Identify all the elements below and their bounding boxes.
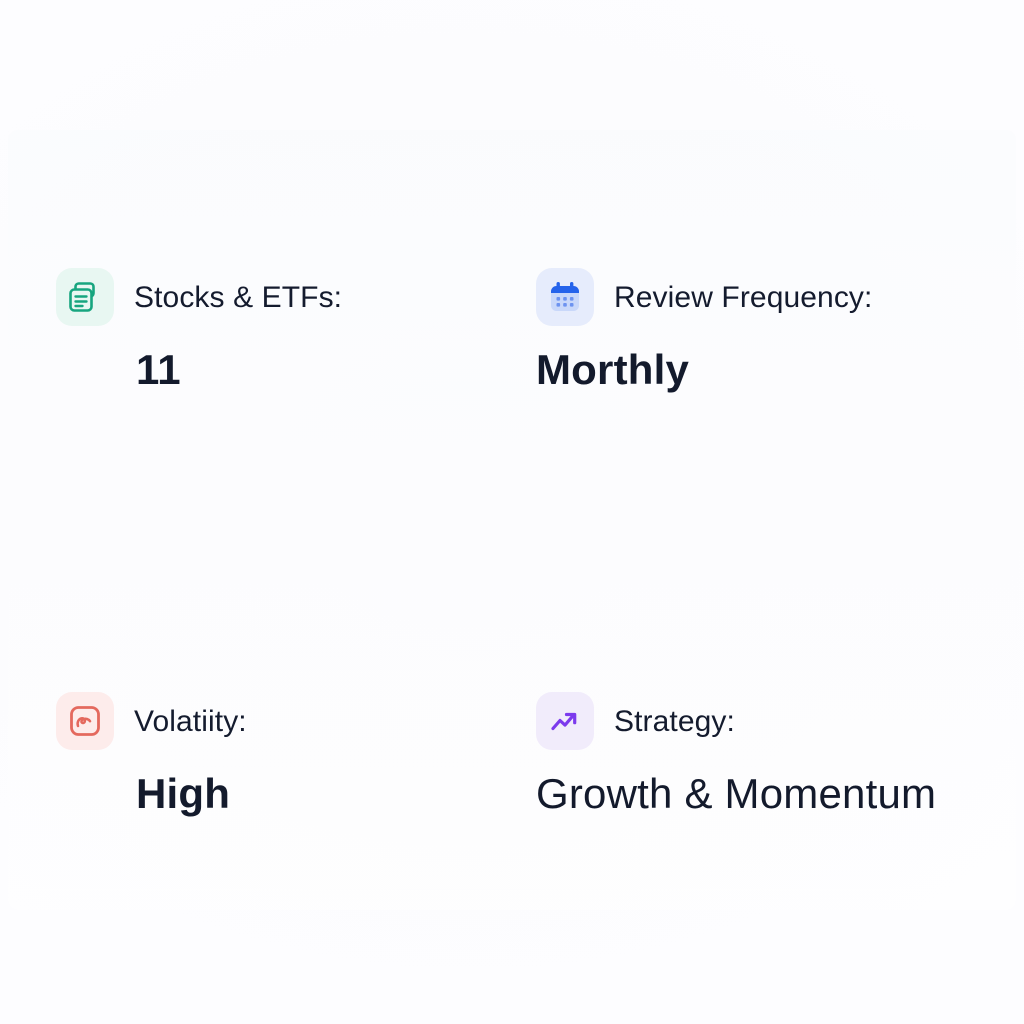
stat-header: Volatiity: xyxy=(56,692,536,750)
trending-up-icon xyxy=(536,692,594,750)
stat-value-stocks-etfs: 11 xyxy=(136,346,536,394)
stat-label-volatility: Volatiity: xyxy=(134,705,247,738)
stat-item-strategy: Strategy: Growth & Momentum xyxy=(536,692,1022,1024)
stat-label-strategy: Strategy: xyxy=(614,705,735,738)
stat-value-review-frequency: Morthly xyxy=(536,346,1022,394)
stat-item-stocks-etfs: Stocks & ETFs: 11 xyxy=(56,268,536,646)
stat-value-strategy: Growth & Momentum xyxy=(536,770,1022,818)
stats-grid: Stocks & ETFs: 11 xyxy=(0,0,1024,1024)
stat-item-review-frequency: Review Frequency: Morthly xyxy=(536,268,1022,646)
document-list-icon xyxy=(56,268,114,326)
calendar-icon xyxy=(536,268,594,326)
stat-header: Review Frequency: xyxy=(536,268,1022,326)
stat-header: Strategy: xyxy=(536,692,1022,750)
stat-item-volatility: Volatiity: High xyxy=(56,692,536,1024)
stat-value-volatility: High xyxy=(136,770,536,818)
stat-label-review-frequency: Review Frequency: xyxy=(614,281,872,314)
stat-label-stocks-etfs: Stocks & ETFs: xyxy=(134,281,342,314)
volatility-squiggle-icon xyxy=(56,692,114,750)
stats-canvas: Stocks & ETFs: 11 xyxy=(0,0,1024,1024)
stat-header: Stocks & ETFs: xyxy=(56,268,536,326)
